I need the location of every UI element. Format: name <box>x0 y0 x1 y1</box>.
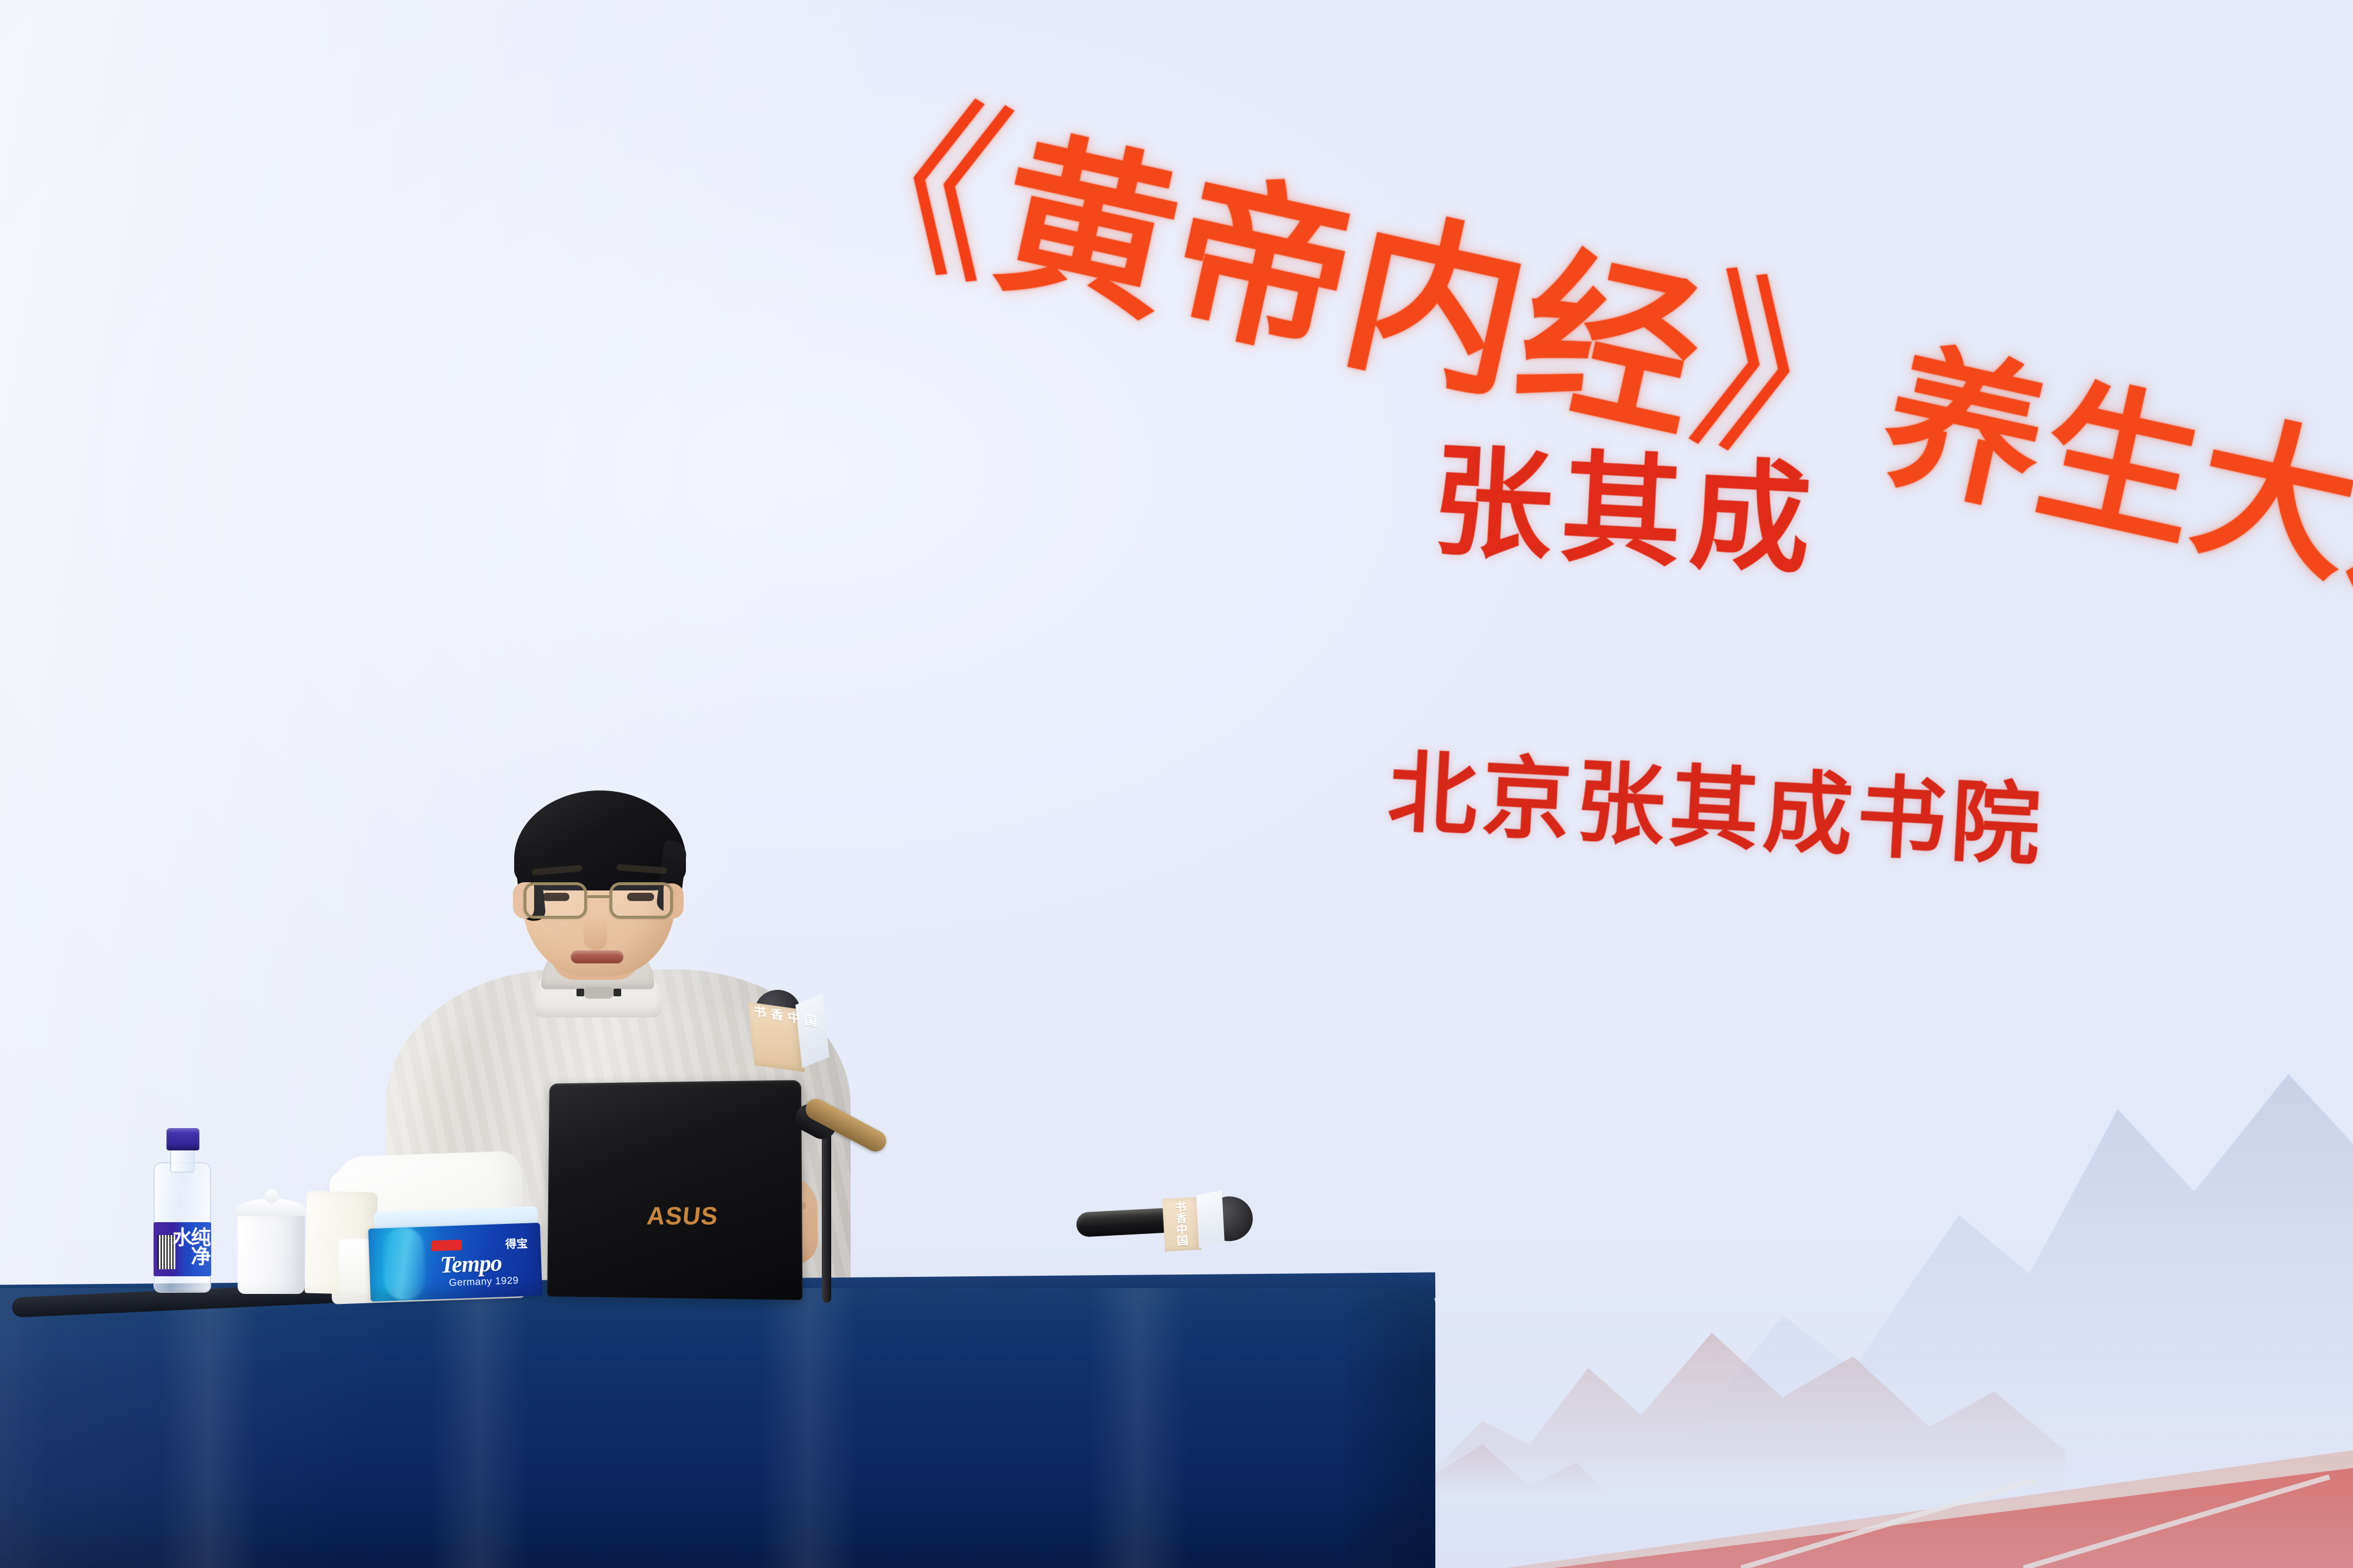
presenter-frog-button <box>584 987 614 999</box>
tissue-box[interactable]: Tempo Germany 1929 得宝 <box>368 1223 542 1302</box>
tissue-box-brand-cn: 得宝 <box>505 1239 528 1250</box>
table-skirt <box>0 1288 1435 1568</box>
laptop-lid <box>547 1080 802 1300</box>
bottle-cap <box>166 1128 199 1150</box>
presenter-mouth <box>571 950 624 963</box>
tissue-box-brand: Tempo <box>439 1251 502 1277</box>
bottle-label: 纯净水 <box>154 1222 211 1276</box>
presenter-hair <box>514 790 686 890</box>
skirt-fold <box>1088 1288 1188 1568</box>
tissue-box-promo-tag <box>431 1240 462 1252</box>
microphone-on-stand[interactable]: 书 香 中 国 <box>791 1091 868 1303</box>
skirt-fold <box>429 1288 529 1568</box>
skirt-fold <box>759 1288 859 1568</box>
eye-right <box>627 893 654 901</box>
glasses-bridge <box>587 895 611 898</box>
presenter-nose <box>584 915 607 950</box>
tissue-box-swoosh <box>382 1227 426 1301</box>
bottle-label-text: 纯净水 <box>171 1227 208 1276</box>
handheld-flag-face-side <box>1196 1190 1224 1248</box>
cup-body <box>238 1210 305 1294</box>
stage-scene: 《黄帝内经》养生大道 张其成 北京张其成书院 <box>0 0 2353 1568</box>
ceramic-cup[interactable] <box>235 1189 307 1294</box>
mic-flag: 书 香 中 国 <box>748 992 830 1072</box>
cup-lid-knob <box>265 1189 279 1203</box>
handheld-microphone[interactable]: 书香中国 <box>1075 1188 1254 1261</box>
tissue-box-tagline: Germany 1929 <box>449 1275 519 1287</box>
handheld-mic-flag: 书香中国 <box>1162 1192 1228 1252</box>
water-bottle[interactable]: 纯净水 <box>150 1128 215 1293</box>
mic-pole <box>822 1126 831 1303</box>
laptop[interactable]: ASUS <box>546 1081 800 1297</box>
eye-left <box>542 893 569 901</box>
handheld-flag-text: 书香中国 <box>1173 1201 1188 1246</box>
skirt-fold <box>159 1288 259 1568</box>
asus-logo-icon: ASUS <box>645 1202 719 1230</box>
